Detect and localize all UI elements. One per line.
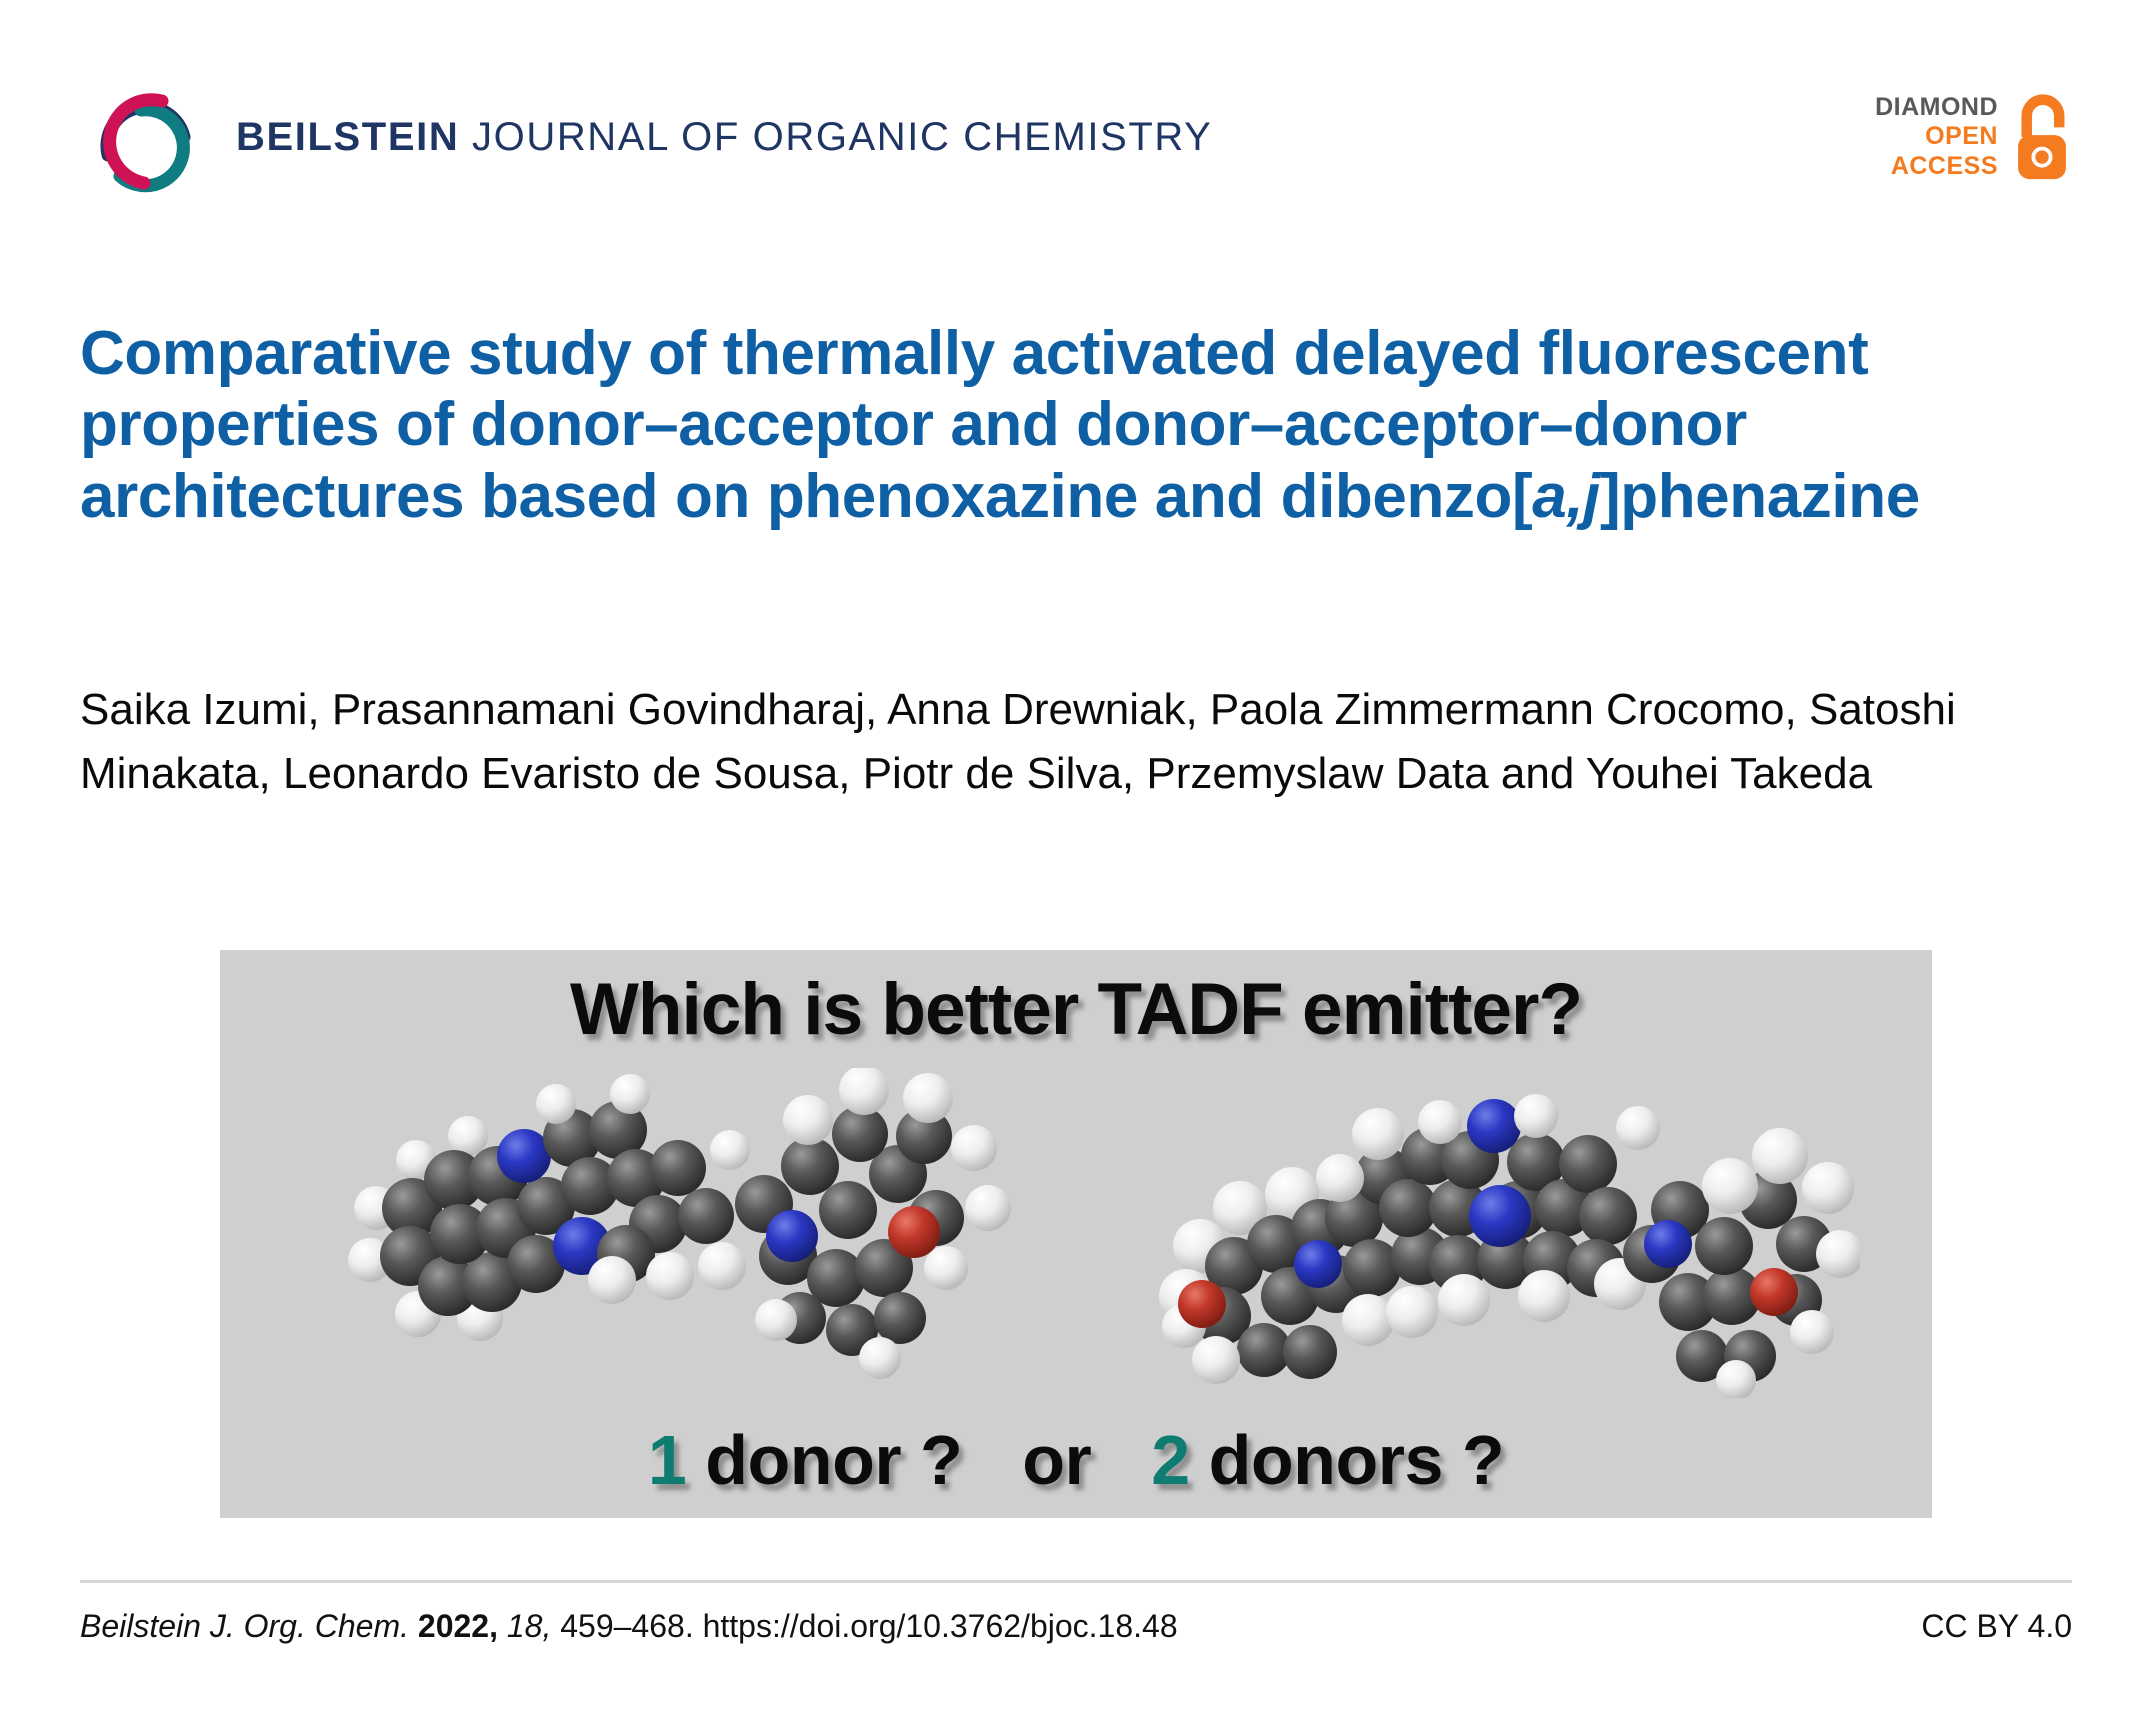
article-cover-page: BEILSTEIN JOURNAL OF ORGANIC CHEMISTRY D… xyxy=(0,0,2150,1733)
article-title-part2: ]phenazine xyxy=(1600,462,1920,531)
graphical-abstract-footline: 1 donor ?or2 donors ? xyxy=(220,1420,1932,1500)
author-list: Saika Izumi, Prasannamani Govindharaj, A… xyxy=(80,678,2010,806)
masthead: BEILSTEIN JOURNAL OF ORGANIC CHEMISTRY D… xyxy=(78,70,2072,200)
citation-doi-link[interactable]: https://doi.org/10.3762/bjoc.18.48 xyxy=(703,1608,1178,1644)
citation-journal: Beilstein J. Org. Chem. xyxy=(80,1608,409,1644)
diamond-open-access-badge: DIAMOND OPEN ACCESS xyxy=(1875,89,2072,182)
open-padlock-icon xyxy=(2012,93,2072,181)
footline-connector: or xyxy=(1022,1421,1091,1499)
donor-acceptor-space-filling-model xyxy=(340,1068,1040,1398)
left-donor-label: donor ? xyxy=(686,1421,962,1499)
open-access-open-label: OPEN xyxy=(1875,122,1998,152)
beilstein-spiral-logo-icon xyxy=(78,71,206,199)
license-label: CC BY 4.0 xyxy=(1921,1608,2072,1645)
article-title-italic-locants: a,j xyxy=(1532,462,1600,531)
right-donor-count: 2 xyxy=(1151,1421,1189,1499)
footer: Beilstein J. Org. Chem. 2022, 18, 459–46… xyxy=(80,1608,2072,1645)
open-access-labels: DIAMOND OPEN ACCESS xyxy=(1875,93,1998,182)
citation-year: 2022, xyxy=(409,1608,498,1644)
donor-acceptor-donor-space-filling-model xyxy=(1140,1068,1860,1398)
graphical-abstract-figure: Which is better TADF emitter? xyxy=(220,950,1932,1518)
right-donor-label: donors ? xyxy=(1190,1421,1504,1499)
graphical-abstract-headline: Which is better TADF emitter? xyxy=(220,968,1932,1051)
citation-volume: 18, xyxy=(498,1608,551,1644)
journal-branding: BEILSTEIN JOURNAL OF ORGANIC CHEMISTRY xyxy=(78,71,1212,199)
open-access-access-label: ACCESS xyxy=(1875,152,1998,182)
journal-title-bold: BEILSTEIN xyxy=(236,115,459,159)
footer-divider xyxy=(80,1580,2072,1583)
citation-line: Beilstein J. Org. Chem. 2022, 18, 459–46… xyxy=(80,1608,1178,1645)
journal-title-light: JOURNAL OF ORGANIC CHEMISTRY xyxy=(459,115,1212,159)
left-donor-count: 1 xyxy=(648,1421,686,1499)
article-title: Comparative study of thermally activated… xyxy=(80,318,1990,534)
molecule-models xyxy=(220,1068,1932,1398)
citation-pages: 459–468. xyxy=(551,1608,702,1644)
open-access-diamond-label: DIAMOND xyxy=(1875,93,1998,123)
journal-title: BEILSTEIN JOURNAL OF ORGANIC CHEMISTRY xyxy=(236,113,1212,157)
